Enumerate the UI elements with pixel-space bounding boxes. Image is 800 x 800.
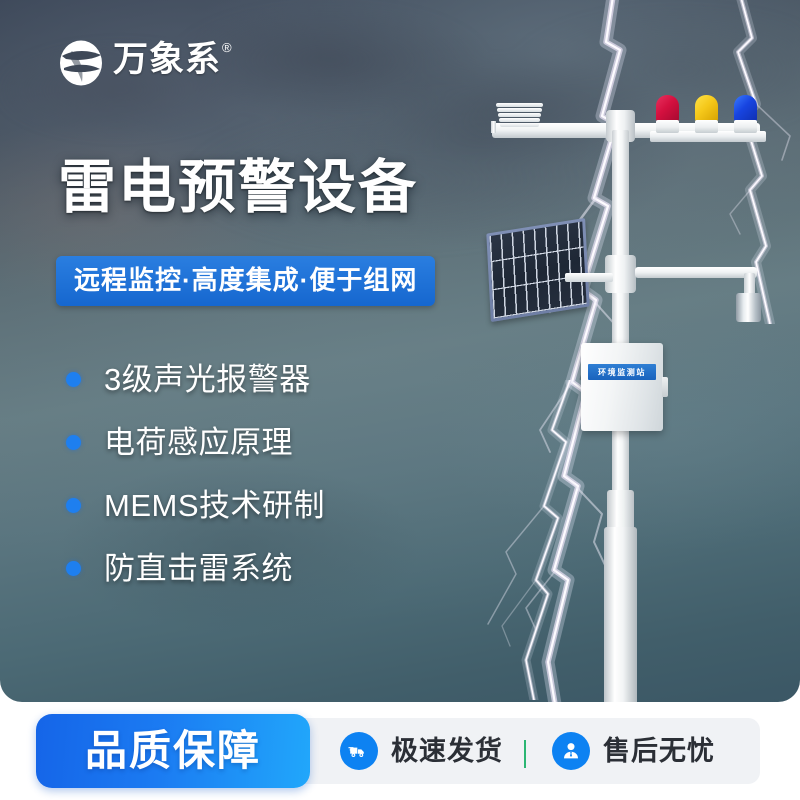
trust-item-shipping: 极速发货: [340, 732, 503, 770]
bottom-trust-bar: 品质保障 极速发货 售后无忧: [0, 714, 800, 788]
product-illustration: 环境监测站: [470, 95, 800, 690]
feature-label: 电荷感应原理: [104, 425, 293, 461]
feature-label: 3级声光报警器: [104, 362, 311, 398]
feature-item: 3级声光报警器: [66, 348, 325, 411]
trust-item-aftersales: 售后无忧: [552, 732, 715, 770]
hero-banner: 万象系 ® 雷电预警设备 远程监控·高度集成·便于组网 3级声光报警器 电荷感应…: [0, 0, 800, 702]
alarm-beacon-group: [656, 95, 760, 141]
control-box-latch: [662, 377, 668, 397]
feature-label: 防直击雷系统: [104, 551, 293, 587]
solar-panel-mount: [565, 273, 613, 282]
quality-badge-label: 品质保障: [85, 727, 261, 775]
pole-upper-section: [612, 130, 629, 500]
brand-logo: 万象系 ®: [58, 38, 232, 88]
delivery-truck-icon: [340, 732, 378, 770]
feature-item: 电荷感应原理: [66, 411, 325, 474]
solar-cell-grid: [489, 221, 586, 318]
feature-item: 防直击雷系统: [66, 537, 325, 600]
page-title: 雷电预警设备: [58, 154, 418, 222]
bullet-dot-icon: [66, 435, 81, 450]
quality-badge: 品质保障: [36, 714, 310, 788]
shipping-label: 极速发货: [391, 735, 503, 767]
control-box-label: 环境监测站: [588, 364, 656, 380]
trademark-symbol: ®: [222, 40, 232, 56]
red-alarm-beacon-icon: [656, 95, 679, 135]
trust-bar-separator: [524, 740, 526, 768]
bullet-dot-icon: [66, 561, 81, 576]
feature-label: MEMS技术研制: [104, 488, 325, 524]
bullet-dot-icon: [66, 498, 81, 513]
control-box: 环境监测站: [581, 343, 663, 431]
circular-swoosh-logo-icon: [58, 38, 104, 88]
customer-service-icon: [552, 732, 590, 770]
subtitle-banner: 远程监控·高度集成·便于组网: [56, 256, 435, 306]
aftersales-label: 售后无忧: [603, 735, 715, 767]
pole-lower-section: [604, 527, 637, 702]
side-sensor-head: [736, 293, 761, 322]
radiation-shield-sensor-icon: [496, 103, 543, 133]
yellow-alarm-beacon-icon: [695, 95, 718, 135]
feature-list: 3级声光报警器 电荷感应原理 MEMS技术研制 防直击雷系统: [66, 348, 325, 600]
feature-item: MEMS技术研制: [66, 474, 325, 537]
brand-name: 万象系: [113, 38, 221, 82]
side-sensor-arm: [635, 267, 757, 278]
sensor-stem: [491, 121, 496, 133]
blue-alarm-beacon-icon: [734, 95, 757, 135]
solar-panel: [486, 218, 589, 322]
bullet-dot-icon: [66, 372, 81, 387]
